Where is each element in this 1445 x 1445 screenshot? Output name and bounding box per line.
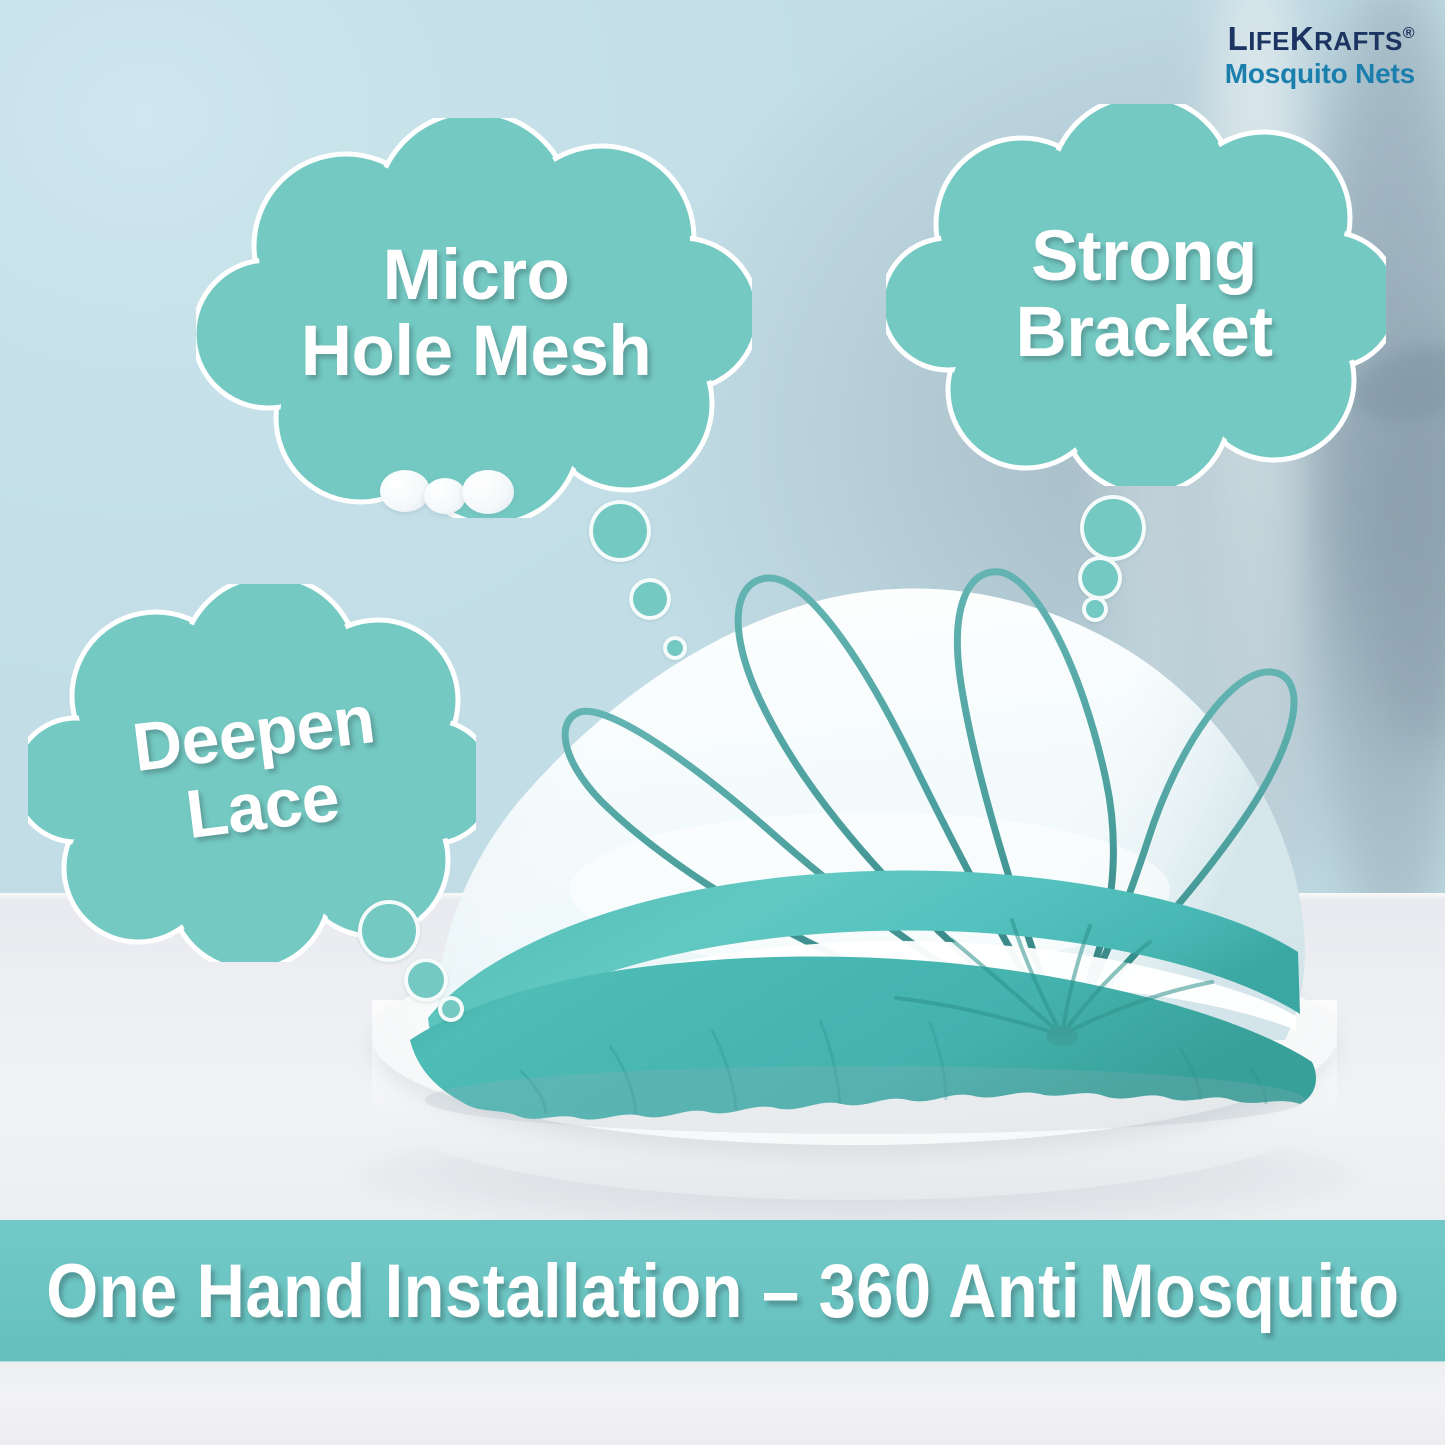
thought-trail-dot xyxy=(663,636,687,660)
thought-trail-dot xyxy=(589,500,651,562)
cloud-puff xyxy=(424,478,466,514)
feature-bubble-label: Micro Hole Mesh xyxy=(297,238,656,390)
cloud-puff xyxy=(380,470,430,512)
thought-trail-dot xyxy=(1080,495,1146,561)
thought-trail-dot xyxy=(404,958,448,1002)
thought-trail-dot xyxy=(358,900,420,962)
registered-trademark-icon: ® xyxy=(1403,25,1415,42)
feature-bubble-deepen-lace: Deepen Lace xyxy=(28,584,476,962)
banner-headline: One Hand Installation – 360 Anti Mosquit… xyxy=(46,1248,1399,1335)
brand-logo: LIFEKRAFTS® Mosquito Nets xyxy=(1225,22,1415,88)
brand-name-ife: IFE xyxy=(1248,26,1290,56)
thought-trail-dot xyxy=(629,578,671,620)
brand-tagline: Mosquito Nets xyxy=(1225,60,1415,88)
brand-name-l: L xyxy=(1228,20,1249,57)
product-marketing-image: Micro Hole Mesh xyxy=(0,0,1445,1445)
brand-name-rafts: RAFTS xyxy=(1314,26,1403,56)
thought-trail-dot xyxy=(1078,556,1122,600)
feature-bubble-strong-bracket: Strong Bracket xyxy=(886,104,1386,486)
brand-name: LIFEKRAFTS® xyxy=(1225,22,1415,55)
thought-trail-dot xyxy=(438,996,464,1022)
brand-name-k: K xyxy=(1290,20,1314,57)
bottom-white-strip xyxy=(0,1362,1445,1445)
feature-bubble-label: Deepen Lace xyxy=(124,683,391,858)
feature-bubble-label: Strong Bracket xyxy=(1012,219,1277,371)
feature-bubble-micro-hole-mesh: Micro Hole Mesh xyxy=(196,118,752,518)
cloud-puff xyxy=(462,470,514,514)
bottom-banner: One Hand Installation – 360 Anti Mosquit… xyxy=(0,1220,1445,1362)
thought-trail-dot xyxy=(1082,596,1108,622)
